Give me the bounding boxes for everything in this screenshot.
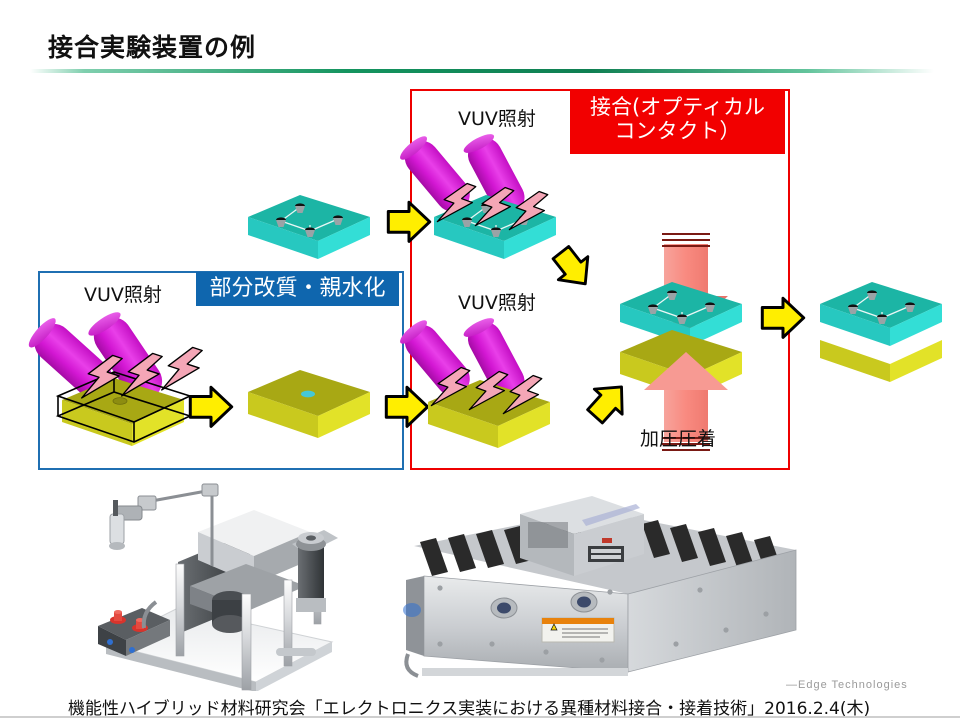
vuv-chamber-photo bbox=[396, 484, 808, 684]
label-pressure-bond: 加圧圧着 bbox=[640, 424, 716, 451]
process-diagram bbox=[0, 0, 960, 500]
banner-partial-modification: 部分改質・親水化 bbox=[196, 272, 399, 306]
pressure-bond-assembly bbox=[620, 234, 742, 450]
banner-bonding-line2: コンタクト） bbox=[570, 119, 785, 143]
edge-technologies-watermark: —Edge Technologies bbox=[786, 679, 908, 691]
label-vuv-red-bottom: VUV照射 bbox=[458, 288, 536, 315]
hydrophilized-substrate bbox=[248, 370, 370, 438]
label-vuv-red-top: VUV照射 bbox=[458, 104, 536, 131]
label-vuv-blue-box: VUV照射 bbox=[84, 280, 162, 307]
flow-arrow-1 bbox=[190, 387, 231, 426]
footer-divider bbox=[0, 716, 960, 718]
chip-initial bbox=[248, 195, 370, 259]
slide-canvas: 接合実験装置の例 bbox=[0, 0, 960, 720]
flow-arrow-3 bbox=[388, 202, 429, 241]
flow-arrow-4 bbox=[546, 241, 600, 295]
banner-bonding: 接合(オプティカル コンタクト） bbox=[570, 90, 785, 154]
bonding-stage-photo bbox=[70, 476, 360, 691]
bonded-assembly-final bbox=[820, 282, 942, 382]
flow-arrow-6 bbox=[762, 298, 803, 337]
banner-bonding-line1: 接合(オプティカル bbox=[570, 95, 785, 119]
flow-arrow-2 bbox=[386, 387, 427, 426]
flow-arrow-5 bbox=[581, 374, 635, 428]
